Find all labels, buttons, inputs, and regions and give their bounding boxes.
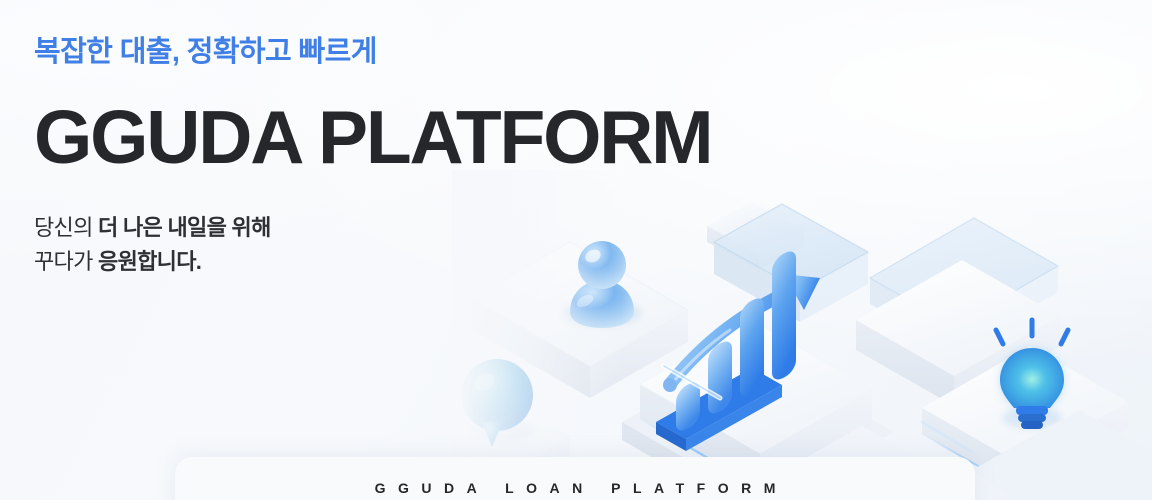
subtitle-line2-strong: 응원합니다.: [98, 249, 201, 274]
bottom-banner: GGUDA LOAN PLATFORM: [175, 457, 975, 500]
page-title: GGUDA PLATFORM: [34, 101, 634, 175]
subtitle-line1-regular: 당신의: [34, 215, 98, 240]
chat-bubble-icon: [461, 359, 534, 447]
bar-4: [772, 247, 796, 384]
hero-banner: 복잡한 대출, 정확하고 빠르게 GGUDA PLATFORM 당신의 더 나은…: [0, 0, 1152, 500]
bar-3: [740, 294, 764, 401]
hero-subtitle-line-2: 꾸다가 응원합니다.: [34, 245, 634, 279]
hero-subtitle: 당신의 더 나은 내일을 위해 꾸다가 응원합니다.: [34, 211, 634, 279]
subtitle-line1-strong: 더 나은 내일을 위해: [98, 215, 271, 240]
hero-subtitle-line-1: 당신의 더 나은 내일을 위해: [34, 211, 634, 245]
hero-tagline: 복잡한 대출, 정확하고 빠르게: [34, 36, 634, 69]
subtitle-line2-regular: 꾸다가: [34, 249, 98, 274]
hero-copy: 복잡한 대출, 정확하고 빠르게 GGUDA PLATFORM 당신의 더 나은…: [34, 36, 634, 279]
bottom-banner-text: GGUDA LOAN PLATFORM: [362, 480, 788, 497]
